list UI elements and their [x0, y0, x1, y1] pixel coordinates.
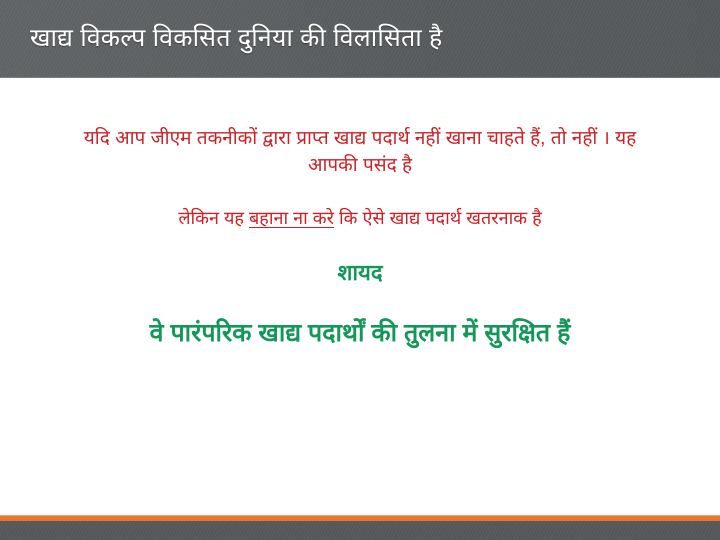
- page-title: खाद्य विकल्प विकसित दुनिया की विलासिता ह…: [30, 18, 700, 58]
- body-paragraph-3: शायद: [80, 258, 640, 288]
- paragraph-2-prefix: लेकिन यह: [178, 208, 249, 228]
- body-paragraph-2: लेकिन यह बहाना ना करे कि ऐसे खाद्य पदार्…: [80, 205, 640, 231]
- slide-title-bar: खाद्य विकल्प विकसित दुनिया की विलासिता ह…: [0, 0, 720, 78]
- slide-body: यदि आप जीएम तकनीकों द्वारा प्राप्त खाद्य…: [0, 78, 720, 515]
- body-paragraph-4: वे पारंपरिक खाद्य पदार्थों की तुलना में …: [80, 316, 640, 350]
- presentation-slide: खाद्य विकल्प विकसित दुनिया की विलासिता ह…: [0, 0, 720, 540]
- slide-footer-bar: [0, 521, 720, 540]
- paragraph-2-emphasis: बहाना ना करे: [249, 208, 334, 228]
- paragraph-2-suffix: कि ऐसे खाद्य पदार्थ खतरनाक है: [334, 208, 542, 228]
- body-paragraph-1: यदि आप जीएम तकनीकों द्वारा प्राप्त खाद्य…: [80, 125, 640, 179]
